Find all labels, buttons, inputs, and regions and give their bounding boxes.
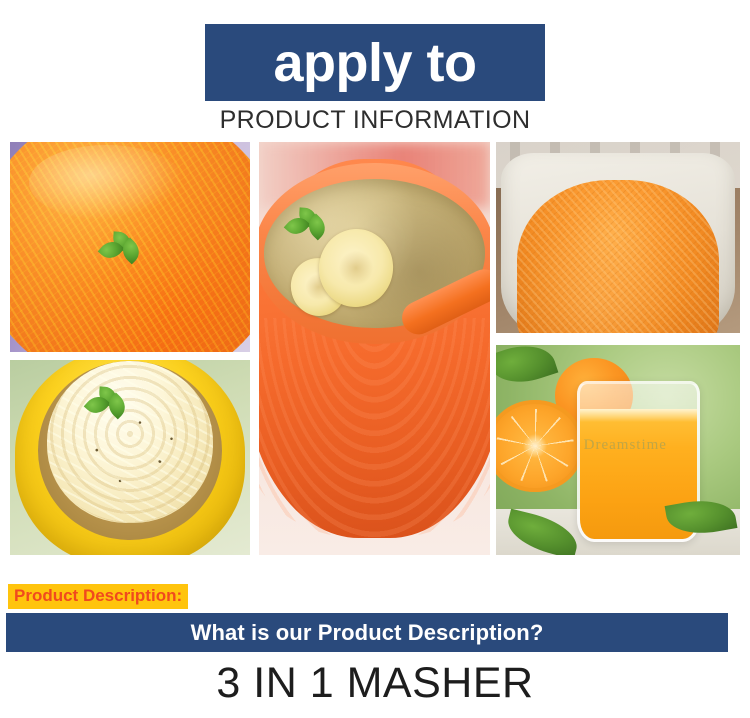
photo-carrot-puree (10, 142, 250, 352)
pumpkin-puree-surface (517, 180, 718, 333)
photo-orange-juice: Dreamstime (496, 345, 740, 555)
mint-leaf-icon (87, 387, 127, 421)
description-question-bar: What is our Product Description? (6, 613, 728, 652)
description-question-text: What is our Product Description? (191, 620, 544, 646)
apply-to-banner: apply to (205, 24, 545, 101)
apply-to-title: apply to (273, 36, 476, 90)
pumpkin-puree-artwork (496, 142, 740, 333)
mint-leaf-icon (287, 208, 327, 242)
product-name-heading: 3 IN 1 MASHER (0, 660, 750, 707)
orange-juice-artwork: Dreamstime (496, 345, 740, 555)
white-dish (501, 153, 735, 333)
pepper-specks (47, 361, 213, 523)
product-information-subtitle: PRODUCT INFORMATION (0, 106, 750, 135)
banana-puree-artwork (259, 142, 490, 555)
carrot-puree-artwork (10, 142, 250, 352)
header-section: apply to PRODUCT INFORMATION (0, 0, 750, 138)
mashed-potato-artwork (10, 360, 250, 555)
photo-pumpkin-puree (496, 142, 740, 333)
mint-leaf-icon (101, 232, 141, 266)
mashed-potato-surface (47, 361, 213, 523)
photo-banana-puree (259, 142, 490, 555)
photo-mashed-potato (10, 360, 250, 555)
soup-highlight (29, 145, 184, 220)
image-gallery: Dreamstime (0, 140, 750, 558)
yellow-bowl (15, 360, 245, 555)
product-description-label: Product Description: (8, 584, 188, 609)
